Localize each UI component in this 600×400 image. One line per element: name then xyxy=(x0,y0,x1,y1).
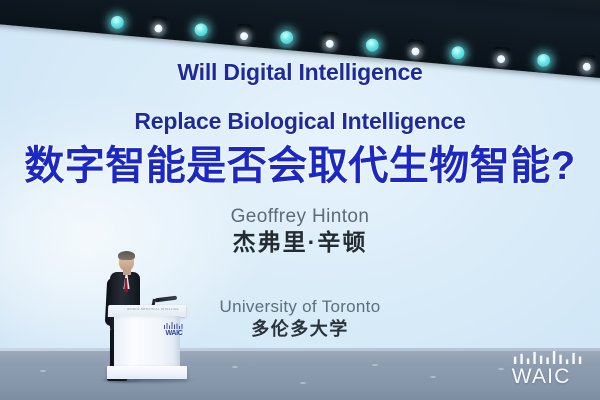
podium-base xyxy=(107,366,187,379)
podium-waic-logo: WAIC xyxy=(163,322,185,342)
skyline-icon xyxy=(512,351,586,364)
stage-floor-edge xyxy=(0,348,600,351)
stage-floor xyxy=(0,348,600,400)
keynote-stage-photo: Will Digital Intelligence Replace Biolog… xyxy=(0,0,600,400)
waic-corner-logo: WAIC xyxy=(512,351,586,388)
podium-nameplate-text: WORLD ARTIFICIAL INTELLIGENCE CONFERENCE xyxy=(127,306,179,312)
speaker-hair xyxy=(118,251,135,260)
waic-wordmark: WAIC xyxy=(512,366,586,388)
podium-waic-wordmark: WAIC xyxy=(163,330,185,338)
skyline-icon xyxy=(163,322,185,329)
